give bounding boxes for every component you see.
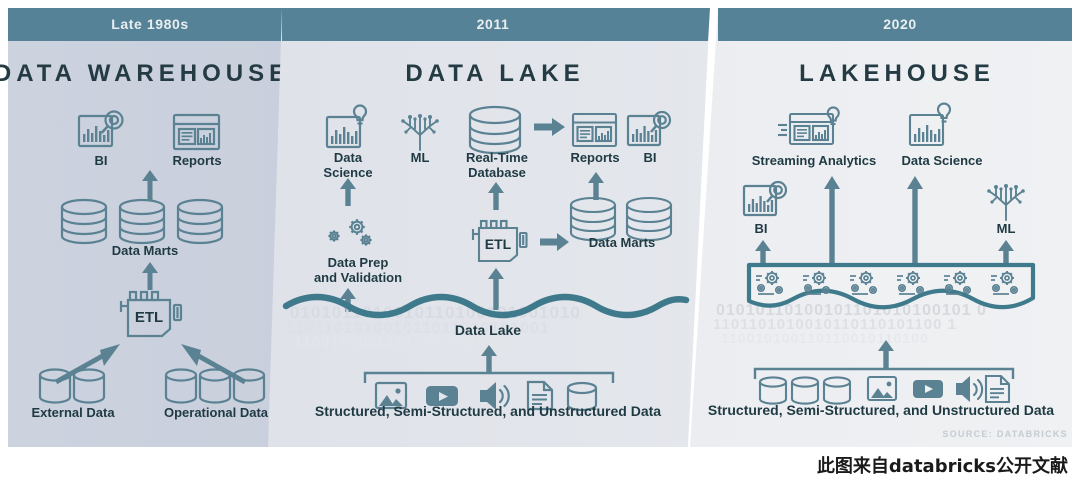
external-data-label: External Data xyxy=(13,405,133,420)
panel3-era-label: 2020 xyxy=(705,8,1080,41)
arrow-up-to-data-science xyxy=(339,178,357,206)
bi-label: BI xyxy=(66,153,136,168)
ml-label: ML xyxy=(982,221,1030,236)
neural-tree-icon xyxy=(984,178,1028,222)
panel2-era-label: 2011 xyxy=(268,8,718,41)
chart-bulb-icon xyxy=(908,108,956,150)
two-cylinders-icon xyxy=(38,367,108,407)
data-science-label: Data Science xyxy=(886,153,998,168)
real-time-database-label: Real-TimeDatabase xyxy=(454,150,540,180)
ml-label: ML xyxy=(390,150,450,165)
wave-icon xyxy=(286,295,686,317)
video-icon xyxy=(913,380,943,398)
svg-text:ETL: ETL xyxy=(485,236,512,252)
reports-window-icon xyxy=(172,113,222,151)
bi-chart-magnifier-icon xyxy=(626,108,674,150)
source-credit: SOURCE: DATABRICKS xyxy=(942,429,1068,439)
arrow-right-to-data-marts xyxy=(540,233,570,251)
arrow-right-to-reports xyxy=(534,118,566,136)
database-icon xyxy=(824,377,850,403)
reports-bulb-icon xyxy=(778,108,842,150)
reports-label: Reports xyxy=(157,153,237,168)
neural-tree-icon xyxy=(398,108,442,152)
panel1-title: DATA WAREHOUSE xyxy=(0,60,292,88)
data-lake-label: Data Lake xyxy=(428,323,548,338)
operational-data-label: Operational Data xyxy=(146,405,286,420)
gear-bar-icon xyxy=(746,262,1036,316)
panel3-title: LAKEHOUSE xyxy=(702,60,1080,88)
image-icon xyxy=(868,377,896,400)
arrow-up-to-ml xyxy=(997,240,1015,264)
data-science-label: DataScience xyxy=(316,150,380,180)
arrow-up-to-bi xyxy=(140,170,160,200)
arrow-up-to-data-lake xyxy=(480,345,498,373)
reports-window-icon xyxy=(571,112,619,148)
chart-bulb-icon xyxy=(324,110,372,152)
arrow-up-to-data-science xyxy=(906,176,924,264)
gears-icon xyxy=(323,213,379,253)
three-small-cylinders-icon xyxy=(164,367,268,407)
document-icon xyxy=(986,376,1009,402)
bi-chart-magnifier-icon xyxy=(76,108,126,152)
bi-label: BI xyxy=(620,150,680,165)
data-marts-label: Data Marts xyxy=(569,235,675,250)
panel-lakehouse: 2020 LAKEHOUSE Streaming Analytics xyxy=(690,0,1080,447)
cylinder-icon xyxy=(468,105,524,155)
etl-engine-icon: ETL xyxy=(465,218,535,266)
three-cylinders-icon xyxy=(60,198,225,246)
database-icon xyxy=(760,377,786,403)
streaming-analytics-label: Streaming Analytics xyxy=(734,153,894,168)
panel-data-warehouse: Late 1980s DATA WAREHOUSE BI xyxy=(0,0,300,447)
infographic-root: Late 1980s DATA WAREHOUSE BI xyxy=(0,0,1080,500)
arrow-up-to-lakehouse xyxy=(877,340,895,368)
bi-label: BI xyxy=(736,221,786,236)
arrow-up-to-bi xyxy=(754,240,772,264)
bi-chart-magnifier-icon xyxy=(742,178,790,220)
panel-data-lake: 2011 DATA LAKE DataScience xyxy=(268,0,718,447)
arrow-up-to-streaming-analytics xyxy=(823,176,841,264)
panel1-era-label: Late 1980s xyxy=(0,8,300,41)
etl-engine-icon: ETL xyxy=(112,288,190,340)
sources-label: Structured, Semi-Structured, and Unstruc… xyxy=(690,403,1072,418)
data-marts-label: Data Marts xyxy=(95,243,195,258)
sources-label: Structured, Semi-Structured, and Unstruc… xyxy=(288,404,688,419)
database-icon xyxy=(792,377,818,403)
svg-text:110010100110110010110100: 110010100110110010110100 xyxy=(721,330,929,346)
arrow-up-to-real-time-database xyxy=(487,182,505,210)
data-prep-label: Data Prepand Validation xyxy=(304,255,412,285)
audio-icon xyxy=(956,376,982,402)
lakehouse-evolution-figure: Late 1980s DATA WAREHOUSE BI xyxy=(0,0,1080,447)
arrow-up-to-data-marts xyxy=(140,262,160,290)
figure-caption: 此图来自databricks公开文献 xyxy=(0,452,1080,478)
panel2-title: DATA LAKE xyxy=(270,60,718,88)
svg-text:ETL: ETL xyxy=(135,309,163,326)
